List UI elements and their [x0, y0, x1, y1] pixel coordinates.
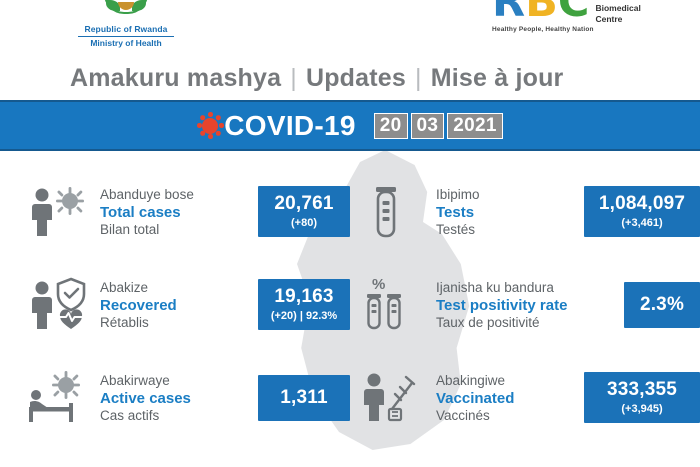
stat-delta: (+80) [266, 216, 342, 231]
stat-value-box: 20,761 (+80) [258, 186, 350, 237]
stat-card-active-cases: Abakirwaye Active cases Cas actifs 1,311 [0, 362, 350, 434]
stat-value-box: 333,355 (+3,945) [584, 372, 700, 423]
label-english: Recovered [100, 297, 258, 315]
stat-delta: (+3,461) [592, 216, 692, 231]
label-kinyarwanda: Ibipimo [436, 187, 480, 202]
title-separator-1: | [281, 64, 306, 93]
rbc-logo-letters: R B C [492, 0, 589, 22]
stat-row: Abakirwaye Active cases Cas actifs 1,311 [0, 351, 700, 444]
person-vaccine-syringe-icon [362, 369, 434, 427]
label-french: Cas actifs [100, 408, 258, 424]
stat-value: 19,163 [274, 286, 333, 307]
covid-banner: COVID-19 20 03 2021 [0, 100, 700, 151]
logo-bar: Republic of Rwanda Ministry of Health R … [0, 0, 700, 56]
title-part-french: Mise à jour [431, 64, 564, 93]
rbc-name-line3: Centre [595, 14, 640, 25]
rbc-letter-b: B [525, 0, 558, 22]
stat-value-box: 2.3% [624, 282, 700, 328]
stat-labels: Abanduye bose Total cases Bilan total [98, 186, 258, 238]
rbc-logo-tagline: Healthy People, Healthy Nation [492, 26, 682, 33]
label-kinyarwanda: Abanduye bose [100, 187, 194, 202]
rbc-name-line2: Biomedical [595, 3, 640, 14]
banner-title: COVID-19 [224, 110, 356, 142]
stat-card-tests: Ibipimo Tests Testés 1,084,097 (+3,461) [350, 176, 700, 248]
moh-logo-divider [78, 36, 174, 37]
stat-labels: Abakirwaye Active cases Cas actifs [98, 372, 258, 424]
stat-value: 2.3% [640, 294, 684, 315]
label-kinyarwanda: Abakirwaye [100, 373, 170, 388]
title-part-kinyarwanda: Amakuru mashya [70, 64, 281, 93]
svg-text:%: % [372, 276, 385, 293]
label-french: Taux de positivité [436, 315, 624, 331]
title-separator-2: | [406, 64, 431, 93]
label-kinyarwanda: Abakize [100, 280, 148, 295]
moh-logo-line2: Ministry of Health [56, 38, 196, 48]
label-kinyarwanda: Abakingiwe [436, 373, 505, 388]
test-tube-icon [362, 183, 434, 241]
stat-card-test-positivity-rate: % Ijanisha ku bandura Test positivity ra… [350, 269, 700, 341]
coronavirus-icon [197, 113, 223, 139]
stat-value-box: 1,311 [258, 375, 350, 421]
stat-value-box: 19,163 (+20) | 92.3% [258, 279, 350, 330]
label-english: Vaccinated [436, 390, 584, 408]
title-part-english: Updates [306, 64, 406, 93]
stats-grid: Abanduye bose Total cases Bilan total 20… [0, 151, 700, 444]
label-french: Testés [436, 222, 584, 238]
stat-delta: (+20) | 92.3% [266, 309, 342, 324]
stat-value-box: 1,084,097 (+3,461) [584, 186, 700, 237]
stat-labels: Abakize Recovered Rétablis [98, 279, 258, 331]
stat-labels: Abakingiwe Vaccinated Vaccinés [434, 372, 584, 424]
stat-value: 1,084,097 [599, 193, 685, 214]
stat-labels: Ijanisha ku bandura Test positivity rate… [434, 279, 624, 331]
date-year: 2021 [447, 113, 502, 139]
label-french: Rétablis [100, 315, 258, 331]
rbc-logo: R B C Rwanda Biomedical Centre Healthy P… [492, 0, 682, 33]
date-month: 03 [411, 113, 445, 139]
label-french: Vaccinés [436, 408, 584, 424]
stat-value: 20,761 [274, 193, 333, 214]
label-english: Active cases [100, 390, 258, 408]
stat-row: Abakize Recovered Rétablis 19,163 (+20) … [0, 258, 700, 351]
stat-value: 1,311 [280, 387, 328, 408]
label-french: Bilan total [100, 222, 258, 238]
label-english: Total cases [100, 204, 258, 222]
date-day: 20 [374, 113, 408, 139]
stat-card-vaccinated: Abakingiwe Vaccinated Vaccinés 333,355 (… [350, 362, 700, 434]
percent-test-tubes-icon: % [362, 276, 434, 334]
moh-logo-line1: Republic of Rwanda [56, 24, 196, 34]
rwanda-coat-of-arms-icon [103, 0, 149, 22]
patient-in-bed-virus-icon [26, 369, 98, 427]
stat-card-total-cases: Abanduye bose Total cases Bilan total 20… [0, 176, 350, 248]
label-english: Tests [436, 204, 584, 222]
label-kinyarwanda: Ijanisha ku bandura [436, 280, 554, 295]
stat-value: 333,355 [607, 379, 677, 400]
person-with-virus-icon [26, 183, 98, 241]
stat-card-recovered: Abakize Recovered Rétablis 19,163 (+20) … [0, 269, 350, 341]
rbc-letter-c: C [558, 0, 590, 22]
person-shield-heart-icon [26, 276, 98, 334]
stat-delta: (+3,945) [592, 402, 692, 417]
rbc-letter-r: R [492, 0, 525, 22]
stat-labels: Ibipimo Tests Testés [434, 186, 584, 238]
rbc-logo-name: Rwanda Biomedical Centre [595, 0, 640, 25]
ministry-of-health-logo: Republic of Rwanda Ministry of Health [56, 0, 196, 48]
page-title: Amakuru mashya | Updates | Mise à jour [0, 56, 700, 100]
label-english: Test positivity rate [436, 297, 624, 315]
banner-date: 20 03 2021 [374, 113, 503, 139]
stat-row: Abanduye bose Total cases Bilan total 20… [0, 165, 700, 258]
